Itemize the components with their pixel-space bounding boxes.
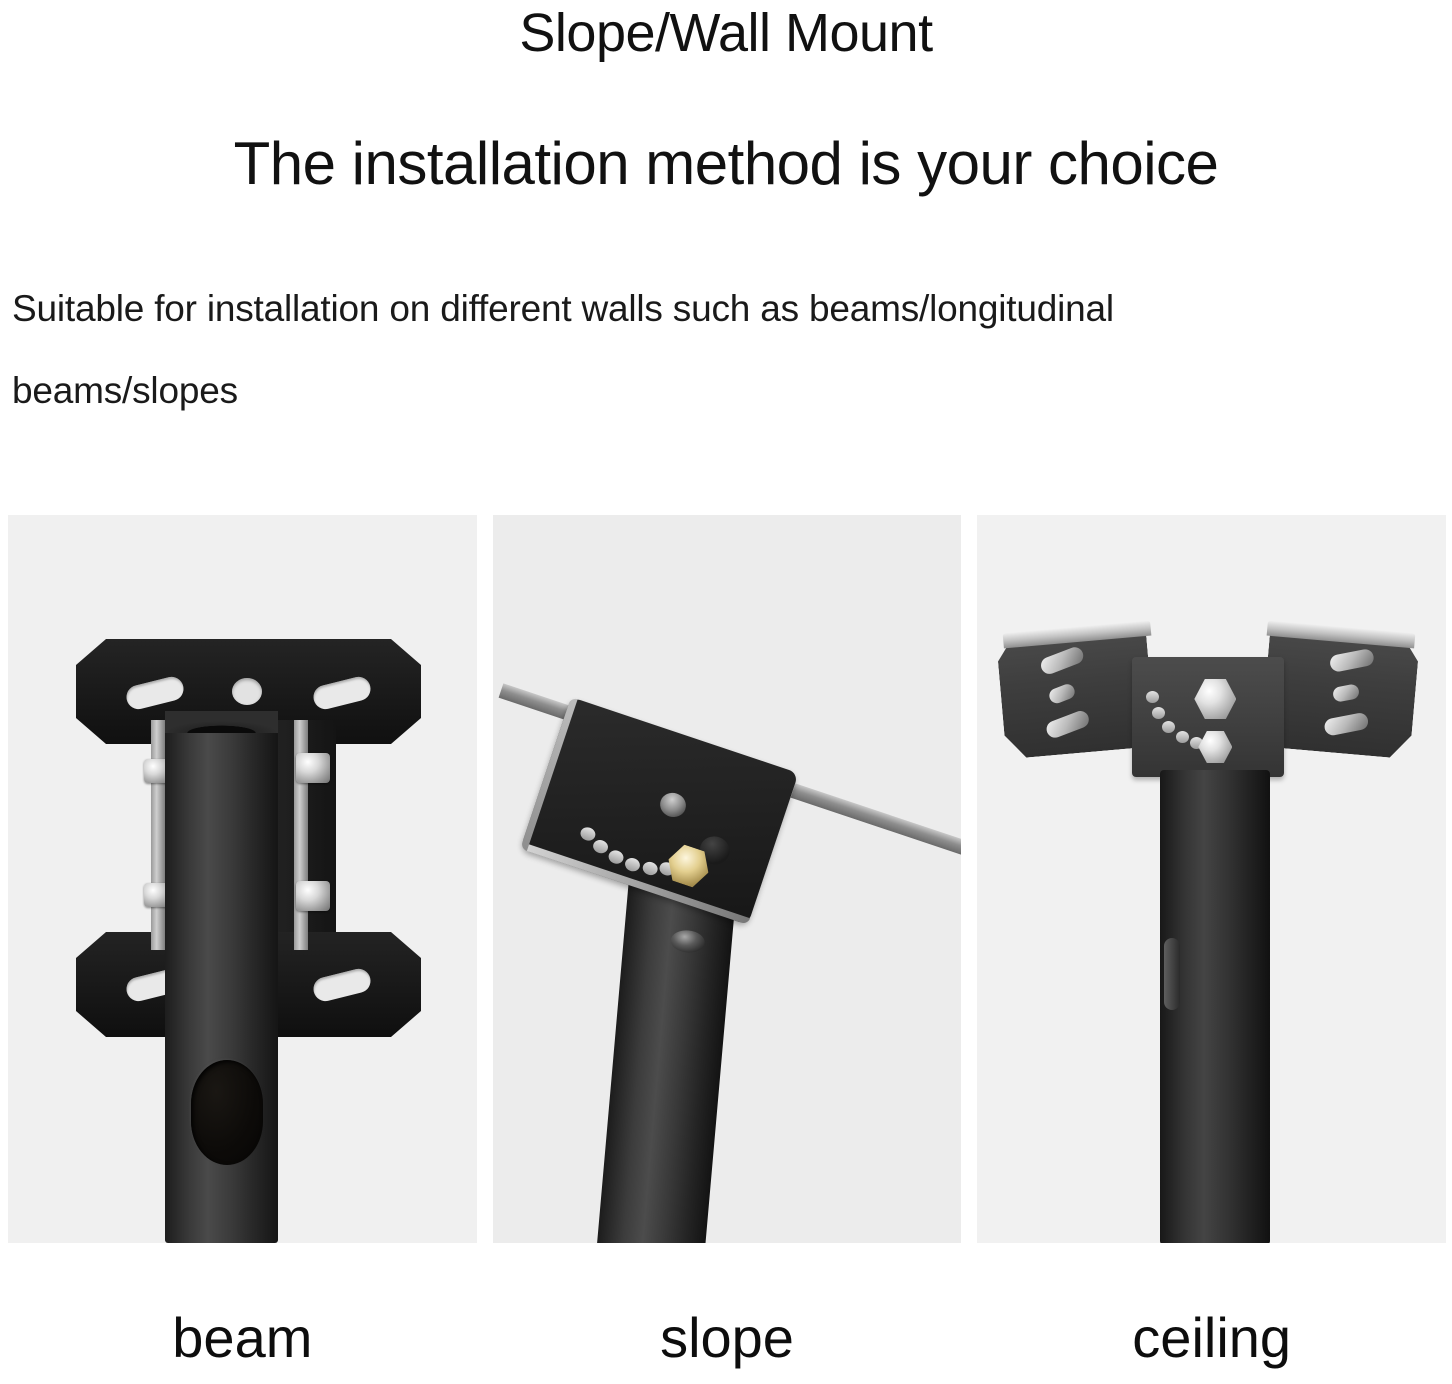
description-line-1: Suitable for installation on different w…: [12, 268, 1452, 350]
slope-plate-hole: [657, 789, 689, 820]
slope-plate-edge-left: [520, 697, 577, 851]
ceiling-right-slot-2: [1332, 683, 1360, 703]
panel-ceiling-mount: [977, 515, 1446, 1243]
ceiling-right-slot-3: [1323, 712, 1369, 737]
beam-bolt-right-upper: [296, 753, 330, 783]
beam-tube-top-rim: [165, 711, 278, 733]
ceiling-left-slot-1: [1039, 645, 1086, 677]
slope-mount-plate: [520, 697, 798, 925]
beam-bolt-right-lower: [296, 881, 330, 911]
beam-clamp-rail-left: [151, 720, 165, 950]
caption-slope: slope: [493, 1300, 962, 1380]
ceiling-support-tube: [1160, 770, 1270, 1243]
description-line-2: beams/slopes: [12, 350, 1452, 432]
ceiling-right-slot-1: [1329, 648, 1375, 673]
slope-wall-bar-right: [790, 783, 961, 870]
panel-beam-mount: [8, 515, 477, 1243]
ceiling-hex-bolt-lower: [1198, 731, 1232, 763]
page-subtitle: The installation method is your choice: [0, 128, 1452, 200]
panel-slope-mount: [493, 515, 962, 1243]
mount-type-gallery: [8, 515, 1446, 1243]
beam-top-center-hole: [232, 678, 262, 705]
caption-beam: beam: [8, 1300, 477, 1380]
ceiling-center-block: [1132, 657, 1284, 777]
ceiling-left-slot-2: [1048, 682, 1078, 705]
description-text: Suitable for installation on different w…: [12, 268, 1452, 432]
product-infographic: Slope/Wall Mount The installation method…: [0, 0, 1452, 1384]
ceiling-hex-bolt-upper: [1194, 679, 1236, 719]
ceiling-left-slot-3: [1044, 709, 1091, 741]
page-title: Slope/Wall Mount: [0, 2, 1452, 64]
caption-ceiling: ceiling: [977, 1300, 1446, 1380]
panel-captions: beam slope ceiling: [8, 1300, 1446, 1380]
beam-tube-cutout: [191, 1060, 263, 1165]
ceiling-tube-notch: [1164, 938, 1180, 1010]
slope-tube-hole: [670, 929, 706, 954]
